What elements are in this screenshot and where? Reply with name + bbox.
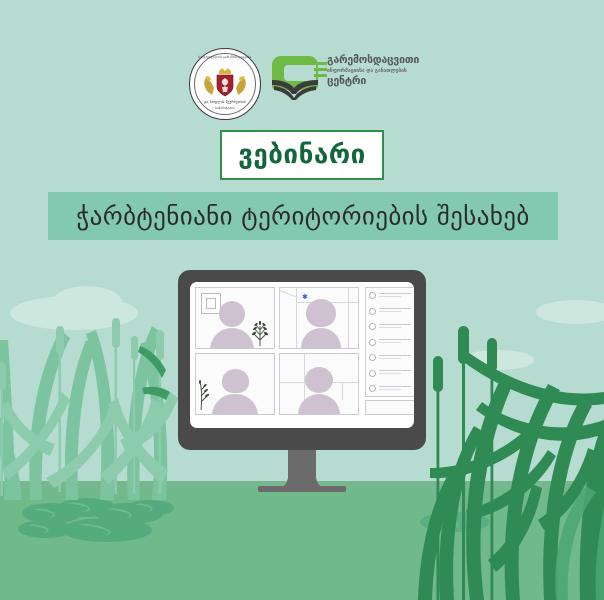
list-item[interactable] (369, 385, 411, 392)
org-name-line1: გარემოსდაცვითი (327, 54, 447, 66)
monitor-stand-base (258, 486, 346, 492)
avatar (210, 301, 254, 349)
avatar (369, 308, 376, 315)
org-name-line2: ინფორმაციისა და განათლების (327, 68, 447, 74)
wall-corner-line (296, 288, 297, 349)
desktop-monitor: ✱ (178, 270, 426, 450)
avatar (369, 354, 376, 361)
org-name-line3: ცენტრი (327, 75, 447, 87)
avatar (369, 370, 376, 377)
logo-row: საქართველოს გარემოს დაცვისა და სოფლის მე… (0, 22, 604, 102)
emblem-ring-text-bottom-2: სამინისტრო (215, 106, 235, 110)
video-grid: ✱ (195, 287, 359, 415)
lily-pad (62, 518, 152, 542)
subtitle-band: ჭარბტენიანი ტერიტორიების შესახებ (48, 192, 558, 240)
list-item[interactable] (369, 370, 411, 377)
avatar (369, 339, 376, 346)
wall-edge-line (280, 290, 296, 297)
monitor-stand-neck (288, 448, 316, 490)
panel-footer-bar[interactable] (365, 400, 414, 415)
org-logo-text: გარემოსდაცვითი ინფორმაციისა და განათლები… (327, 54, 447, 87)
subtitle-text: ჭარბტენიანი ტერიტორიების შესახებ (76, 202, 529, 231)
list-item[interactable] (369, 354, 411, 361)
logo-bars-icon (314, 62, 327, 80)
monitor-screen: ✱ (190, 282, 414, 428)
emblem-ring-text-bottom-1: და სოფლის მეურნეობის (204, 100, 246, 104)
cloud-left-b (52, 286, 122, 320)
avatar (369, 385, 376, 392)
coat-of-arms-emblem: საქართველოს გარემოს დაცვისა და სოფლის მე… (189, 48, 261, 120)
lily-pad (126, 500, 174, 516)
list-item[interactable] (369, 323, 411, 330)
book-c-logo-icon (270, 56, 322, 104)
avatar (301, 299, 341, 349)
participant-tile-4[interactable] (279, 353, 359, 415)
post-line (342, 382, 343, 400)
list-item[interactable] (369, 308, 411, 315)
participant-list[interactable] (365, 287, 414, 397)
participant-tile-3[interactable] (195, 353, 275, 415)
webinar-badge: ვებინარი (220, 130, 384, 180)
avatar (369, 323, 376, 330)
list-item[interactable] (369, 339, 411, 346)
participant-tile-2[interactable]: ✱ (279, 287, 359, 349)
webinar-badge-label: ვებინარი (238, 140, 366, 170)
emblem-shield-graphic (202, 68, 248, 98)
org-logo: გარემოსდაცვითი ინფორმაციისა და განათლები… (270, 52, 445, 110)
wall-right-line (348, 288, 349, 349)
avatar (369, 292, 376, 299)
participant-tile-1[interactable] (195, 287, 275, 349)
list-item[interactable] (369, 292, 411, 299)
lily-pad (420, 512, 490, 532)
avatar (212, 369, 258, 415)
poster-canvas: საქართველოს გარემოს დაცვისა და სოფლის მე… (0, 0, 604, 600)
avatar (298, 367, 340, 415)
logo-book-shape (270, 78, 322, 102)
emblem-ring-text-top: საქართველოს გარემოს დაცვისა (199, 55, 252, 59)
cloud-right (462, 350, 534, 370)
participant-panel (365, 287, 414, 415)
